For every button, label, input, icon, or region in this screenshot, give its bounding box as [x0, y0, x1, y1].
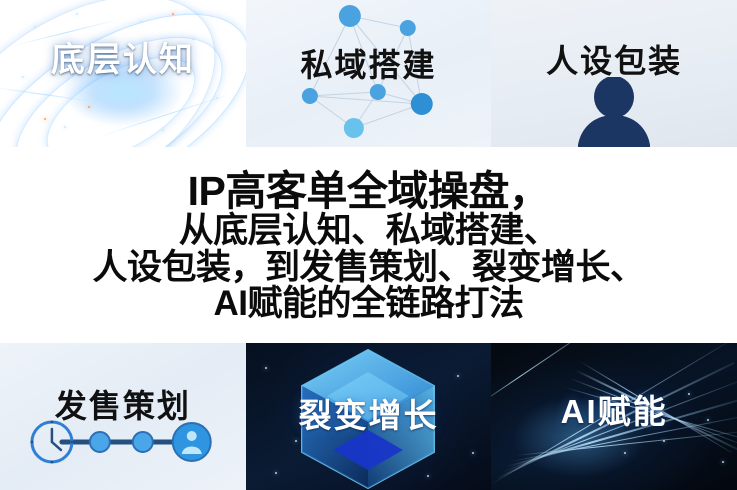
person-silhouette-icon [559, 77, 669, 147]
tile-persona-packaging[interactable]: 人设包装 [491, 0, 737, 147]
tile-private-domain[interactable]: 私域搭建 [246, 0, 492, 147]
particle-dot-icon [295, 440, 297, 442]
headline-band: IP高客单全域操盘， 从底层认知、私域搭建、 人设包装，到发售策划、裂变增长、 … [0, 147, 737, 343]
headline-line-3: 人设包装，到发售策划、裂变增长、 [92, 250, 644, 286]
tile-label-launch-planning: 发售策划 [0, 381, 246, 427]
tile-viral-growth[interactable]: 裂变增长 [246, 343, 492, 490]
particle-dot-icon [722, 461, 724, 463]
headline-line-4: AI赋能的全链路打法 [213, 286, 523, 322]
tile-label-persona-packaging: 人设包装 [491, 36, 737, 82]
headline-line-1: IP高客单全域操盘， [188, 170, 550, 213]
tile-label-viral-growth: 裂变增长 [246, 389, 492, 437]
particle-dot-icon [472, 452, 474, 454]
particle-dot-icon [44, 118, 46, 120]
tile-foundational-cognition[interactable]: 底层认知 [0, 0, 246, 147]
tile-ai-empowerment[interactable]: AI赋能 [491, 343, 737, 490]
tile-label-foundational-cognition: 底层认知 [0, 32, 246, 81]
bottom-tile-row: 发售策划 [0, 343, 737, 490]
tile-label-private-domain: 私域搭建 [246, 40, 492, 86]
headline-line-2: 从底层认知、私域搭建、 [179, 213, 559, 249]
particle-dot-icon [624, 452, 626, 454]
poster-canvas: 底层认知 [0, 0, 737, 490]
particle-dot-icon [140, 21, 142, 23]
top-tile-row: 底层认知 [0, 0, 737, 147]
tile-launch-planning[interactable]: 发售策划 [0, 343, 246, 490]
tile-label-ai-empowerment: AI赋能 [491, 385, 737, 433]
